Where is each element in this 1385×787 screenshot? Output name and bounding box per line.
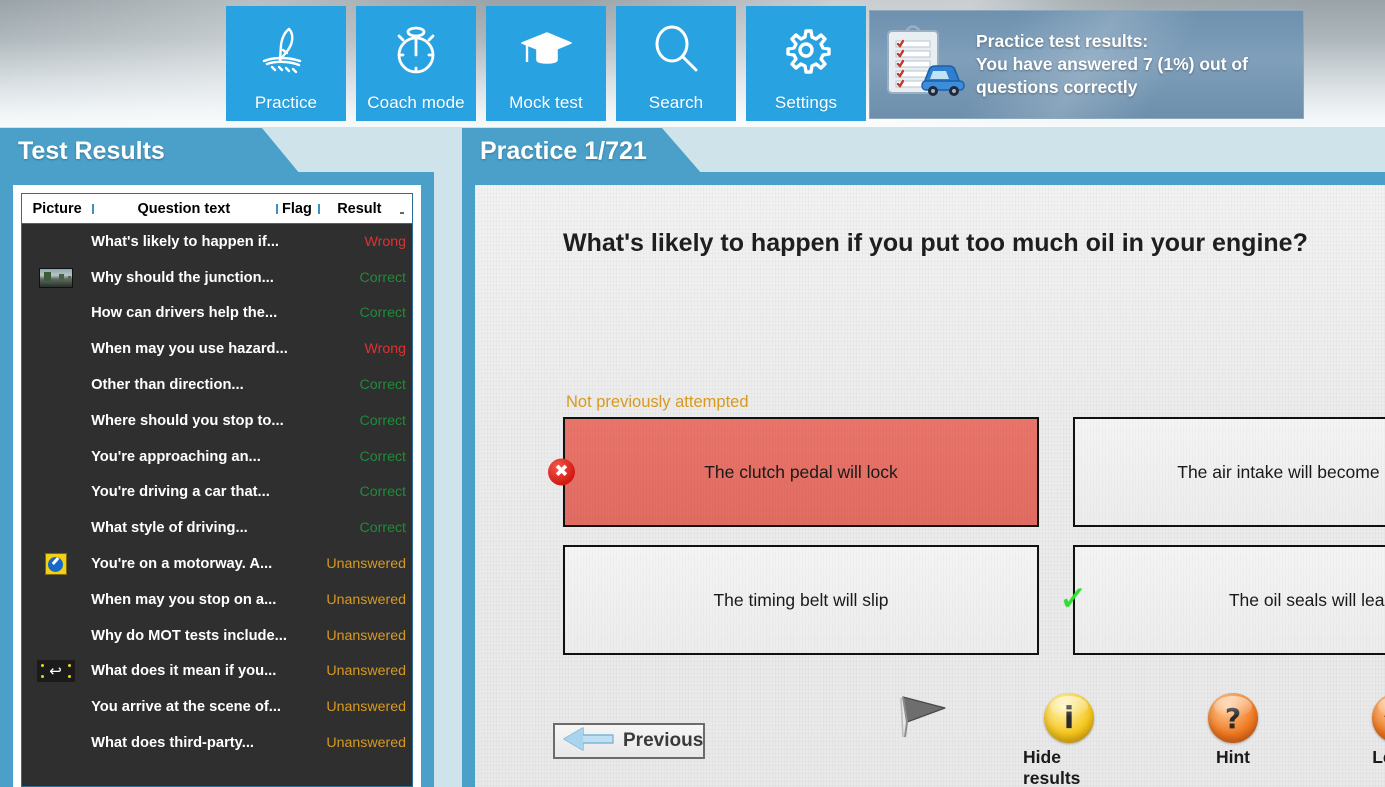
- hint-button[interactable]: ? Hint: [1187, 693, 1279, 787]
- test-results-tab[interactable]: Test Results: [0, 128, 300, 174]
- column-header-picture: Picture: [22, 201, 92, 217]
- question-icon: ?: [1208, 693, 1258, 743]
- row-result-cell: Correct: [318, 305, 412, 321]
- practice-panel: What's likely to happen if you put too m…: [462, 172, 1385, 787]
- table-row[interactable]: Other than direction...Correct: [22, 367, 412, 403]
- results-line-3: questions correctly: [976, 76, 1248, 99]
- row-result-cell: Unanswered: [318, 663, 412, 679]
- row-question-cell: You're driving a car that...: [89, 484, 318, 500]
- table-row[interactable]: ↩What does it mean if you...Unanswered: [22, 654, 412, 690]
- results-grid: Picture Question text Flag Result What's…: [21, 193, 413, 787]
- info-glyph: i: [1064, 701, 1074, 736]
- results-line-2: You have answered 7 (1%) out of: [976, 53, 1248, 76]
- table-row[interactable]: You're driving a car that...Correct: [22, 475, 412, 511]
- clipboard-car-icon: [880, 21, 968, 108]
- previous-button[interactable]: Previous: [553, 723, 705, 759]
- column-header-flag: Flag: [276, 201, 319, 217]
- row-result-cell: Unanswered: [318, 735, 412, 751]
- test-results-tab-label: Test Results: [18, 137, 165, 166]
- row-result-cell: Correct: [318, 413, 412, 429]
- row-picture-cell: ↩: [22, 660, 89, 682]
- question-sheet: What's likely to happen if you put too m…: [475, 185, 1385, 787]
- table-row[interactable]: When may you use hazard...Wrong: [22, 331, 412, 367]
- row-question-cell: When may you use hazard...: [89, 341, 318, 357]
- practice-test-results-banner[interactable]: Practice test results: You have answered…: [869, 10, 1304, 119]
- answer-option-label: The clutch pedal will lock: [704, 462, 898, 483]
- row-result-cell: Unanswered: [318, 628, 412, 644]
- row-picture-cell: [22, 553, 89, 575]
- stopwatch-icon: [356, 6, 476, 93]
- graduation-cap-icon: [486, 6, 606, 93]
- practice-tab[interactable]: Practice 1/721: [462, 128, 702, 174]
- answer-option-label: The timing belt will slip: [713, 590, 888, 611]
- hide-results-button[interactable]: i Hide results: [1023, 693, 1115, 787]
- row-question-cell: What does third-party...: [89, 735, 318, 751]
- nav-tile-label: Settings: [775, 93, 837, 113]
- table-row[interactable]: How can drivers help the...Correct: [22, 296, 412, 332]
- table-row[interactable]: You're on a motorway. A...Unanswered: [22, 546, 412, 582]
- answer-option[interactable]: ✖The clutch pedal will lock: [563, 417, 1039, 527]
- practice-tab-label: Practice 1/721: [480, 137, 647, 166]
- row-question-cell: When may you stop on a...: [89, 592, 318, 608]
- row-picture-cell: [22, 268, 89, 288]
- nav-tile-label: Practice: [255, 93, 317, 113]
- table-row[interactable]: Why should the junction...Correct: [22, 260, 412, 296]
- home-icon: [1372, 693, 1385, 743]
- table-row[interactable]: You arrive at the scene of...Unanswered: [22, 689, 412, 725]
- leave-label: Leave: [1372, 747, 1385, 768]
- table-row[interactable]: When may you stop on a...Unanswered: [22, 582, 412, 618]
- row-question-cell: How can drivers help the...: [89, 305, 318, 321]
- answer-option[interactable]: ✓The oil seals will leak: [1073, 545, 1385, 655]
- nav-tile-mock-test[interactable]: Mock test: [486, 6, 606, 121]
- answer-option-label: The oil seals will leak: [1229, 590, 1385, 611]
- pen-icon: [226, 6, 346, 93]
- column-header-question: Question text: [92, 201, 275, 217]
- road-sign-thumbnail: [45, 553, 67, 575]
- row-question-cell: You arrive at the scene of...: [89, 699, 318, 715]
- magnifier-icon: [616, 6, 736, 93]
- answer-option[interactable]: The air intake will become blocked: [1073, 417, 1385, 527]
- previous-button-label: Previous: [623, 730, 703, 752]
- table-row[interactable]: Where should you stop to...Correct: [22, 403, 412, 439]
- table-row[interactable]: Why do MOT tests include...Unanswered: [22, 618, 412, 654]
- nav-tile-settings[interactable]: Settings: [746, 6, 866, 121]
- row-question-cell: You're on a motorway. A...: [89, 556, 318, 572]
- row-result-cell: Wrong: [318, 341, 412, 357]
- row-question-cell: What's likely to happen if...: [89, 234, 318, 250]
- row-result-cell: Correct: [318, 484, 412, 500]
- nav-tile-search[interactable]: Search: [616, 6, 736, 121]
- row-question-cell: You're approaching an...: [89, 449, 318, 465]
- results-grid-rows: What's likely to happen if...WrongWhy sh…: [22, 224, 412, 761]
- left-arrow-icon: [561, 726, 617, 757]
- main-nav-tiles: Practice Coach mode Mock test: [226, 6, 866, 121]
- answer-options: ✖The clutch pedal will lockThe air intak…: [563, 417, 1385, 655]
- row-question-cell: Other than direction...: [89, 377, 318, 393]
- column-header-result: Result: [318, 201, 400, 217]
- road-sign-thumbnail: ↩: [37, 660, 75, 682]
- nav-tile-label: Search: [649, 93, 703, 113]
- row-result-cell: Correct: [318, 270, 412, 286]
- answer-option-label: The air intake will become blocked: [1177, 462, 1385, 483]
- question-text: What's likely to happen if you put too m…: [563, 229, 1308, 258]
- nav-tile-label: Coach mode: [367, 93, 464, 113]
- test-results-panel: Picture Question text Flag Result What's…: [0, 172, 434, 787]
- hint-label: Hint: [1216, 747, 1250, 768]
- nav-tile-label: Mock test: [509, 93, 583, 113]
- question-glyph: ?: [1225, 702, 1241, 735]
- flag-marker-icon[interactable]: [889, 691, 953, 748]
- hide-results-label: Hide results: [1023, 747, 1115, 787]
- gear-icon: [746, 6, 866, 93]
- nav-tile-coach-mode[interactable]: Coach mode: [356, 6, 476, 121]
- row-result-cell: Unanswered: [318, 699, 412, 715]
- correct-answer-icon: ✓: [1059, 584, 1091, 616]
- table-row[interactable]: What style of driving...Correct: [22, 510, 412, 546]
- results-grid-header: Picture Question text Flag Result: [22, 194, 412, 224]
- row-result-cell: Wrong: [318, 234, 412, 250]
- table-row[interactable]: What does third-party...Unanswered: [22, 725, 412, 761]
- info-icon: i: [1044, 693, 1094, 743]
- table-row[interactable]: You're approaching an...Correct: [22, 439, 412, 475]
- row-question-cell: Why do MOT tests include...: [89, 628, 318, 644]
- action-buttons: i Hide results ? Hint Leave: [1023, 693, 1385, 787]
- results-line-1: Practice test results:: [976, 30, 1248, 53]
- row-result-cell: Unanswered: [318, 592, 412, 608]
- nav-tile-practice[interactable]: Practice: [226, 6, 346, 121]
- row-result-cell: Correct: [318, 449, 412, 465]
- leave-button[interactable]: Leave: [1351, 693, 1385, 787]
- table-row[interactable]: What's likely to happen if...Wrong: [22, 224, 412, 260]
- attempt-status: Not previously attempted: [566, 393, 749, 412]
- question-photo-thumbnail: [39, 268, 73, 288]
- wrong-answer-icon: ✖: [548, 459, 575, 486]
- row-result-cell: Correct: [318, 377, 412, 393]
- answer-option[interactable]: The timing belt will slip: [563, 545, 1039, 655]
- row-question-cell: Where should you stop to...: [89, 413, 318, 429]
- row-question-cell: What does it mean if you...: [89, 663, 318, 679]
- row-question-cell: What style of driving...: [89, 520, 318, 536]
- row-question-cell: Why should the junction...: [89, 270, 318, 286]
- row-result-cell: Unanswered: [318, 556, 412, 572]
- test-results-panel-inner: Picture Question text Flag Result What's…: [13, 185, 421, 787]
- results-banner-text: Practice test results: You have answered…: [976, 30, 1248, 100]
- row-result-cell: Correct: [318, 520, 412, 536]
